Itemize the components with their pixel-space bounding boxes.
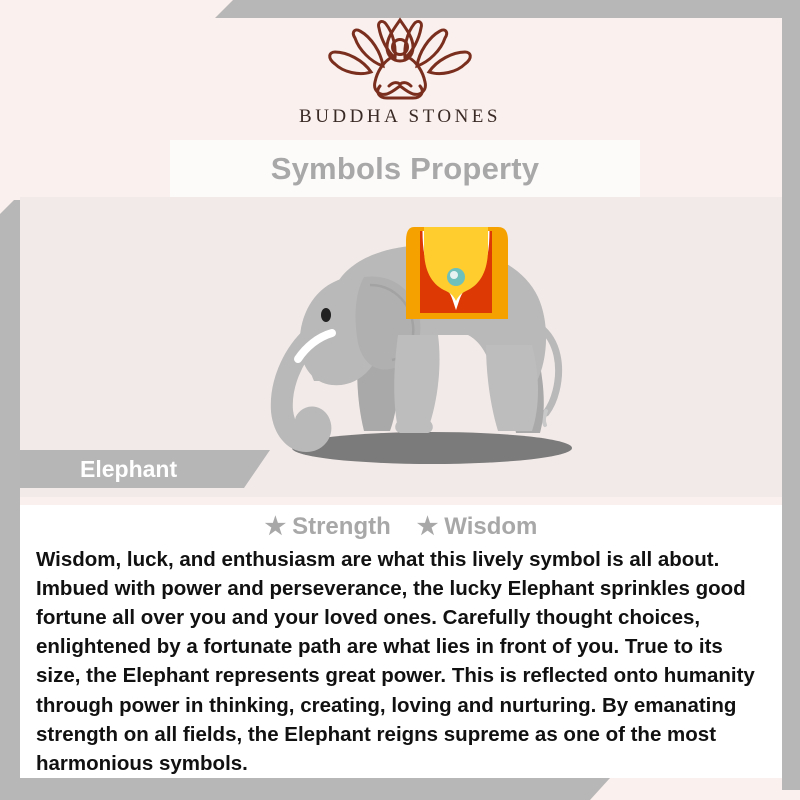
attribute-wisdom-label: Wisdom <box>444 513 537 541</box>
frame-bottom-bar <box>0 778 610 800</box>
description-panel: ★ Strength ★ Wisdom Wisdom, luck, and en… <box>20 505 782 778</box>
lotus-meditation-icon <box>325 16 475 104</box>
star-icon: ★ <box>265 515 287 539</box>
star-icon: ★ <box>417 515 439 539</box>
brand-name: BUDDHA STONES <box>299 106 501 128</box>
brand-header: BUDDHA STONES <box>0 0 800 140</box>
attribute-strength: ★ Strength <box>265 513 391 541</box>
elephant-illustration-icon <box>240 215 620 485</box>
symbols-property-card: BUDDHA STONES Symbols Property <box>0 0 800 800</box>
description-text: Wisdom, luck, and enthusiasm are what th… <box>36 545 768 778</box>
symbol-name-label: Elephant <box>80 456 177 483</box>
title-banner: Symbols Property <box>170 140 640 197</box>
attributes-row: ★ Strength ★ Wisdom <box>20 505 782 541</box>
symbol-name-tag: Elephant <box>20 450 270 488</box>
page-title: Symbols Property <box>271 151 540 187</box>
attribute-strength-label: Strength <box>292 513 391 541</box>
attribute-wisdom: ★ Wisdom <box>417 513 538 541</box>
frame-left-bar <box>0 200 20 800</box>
